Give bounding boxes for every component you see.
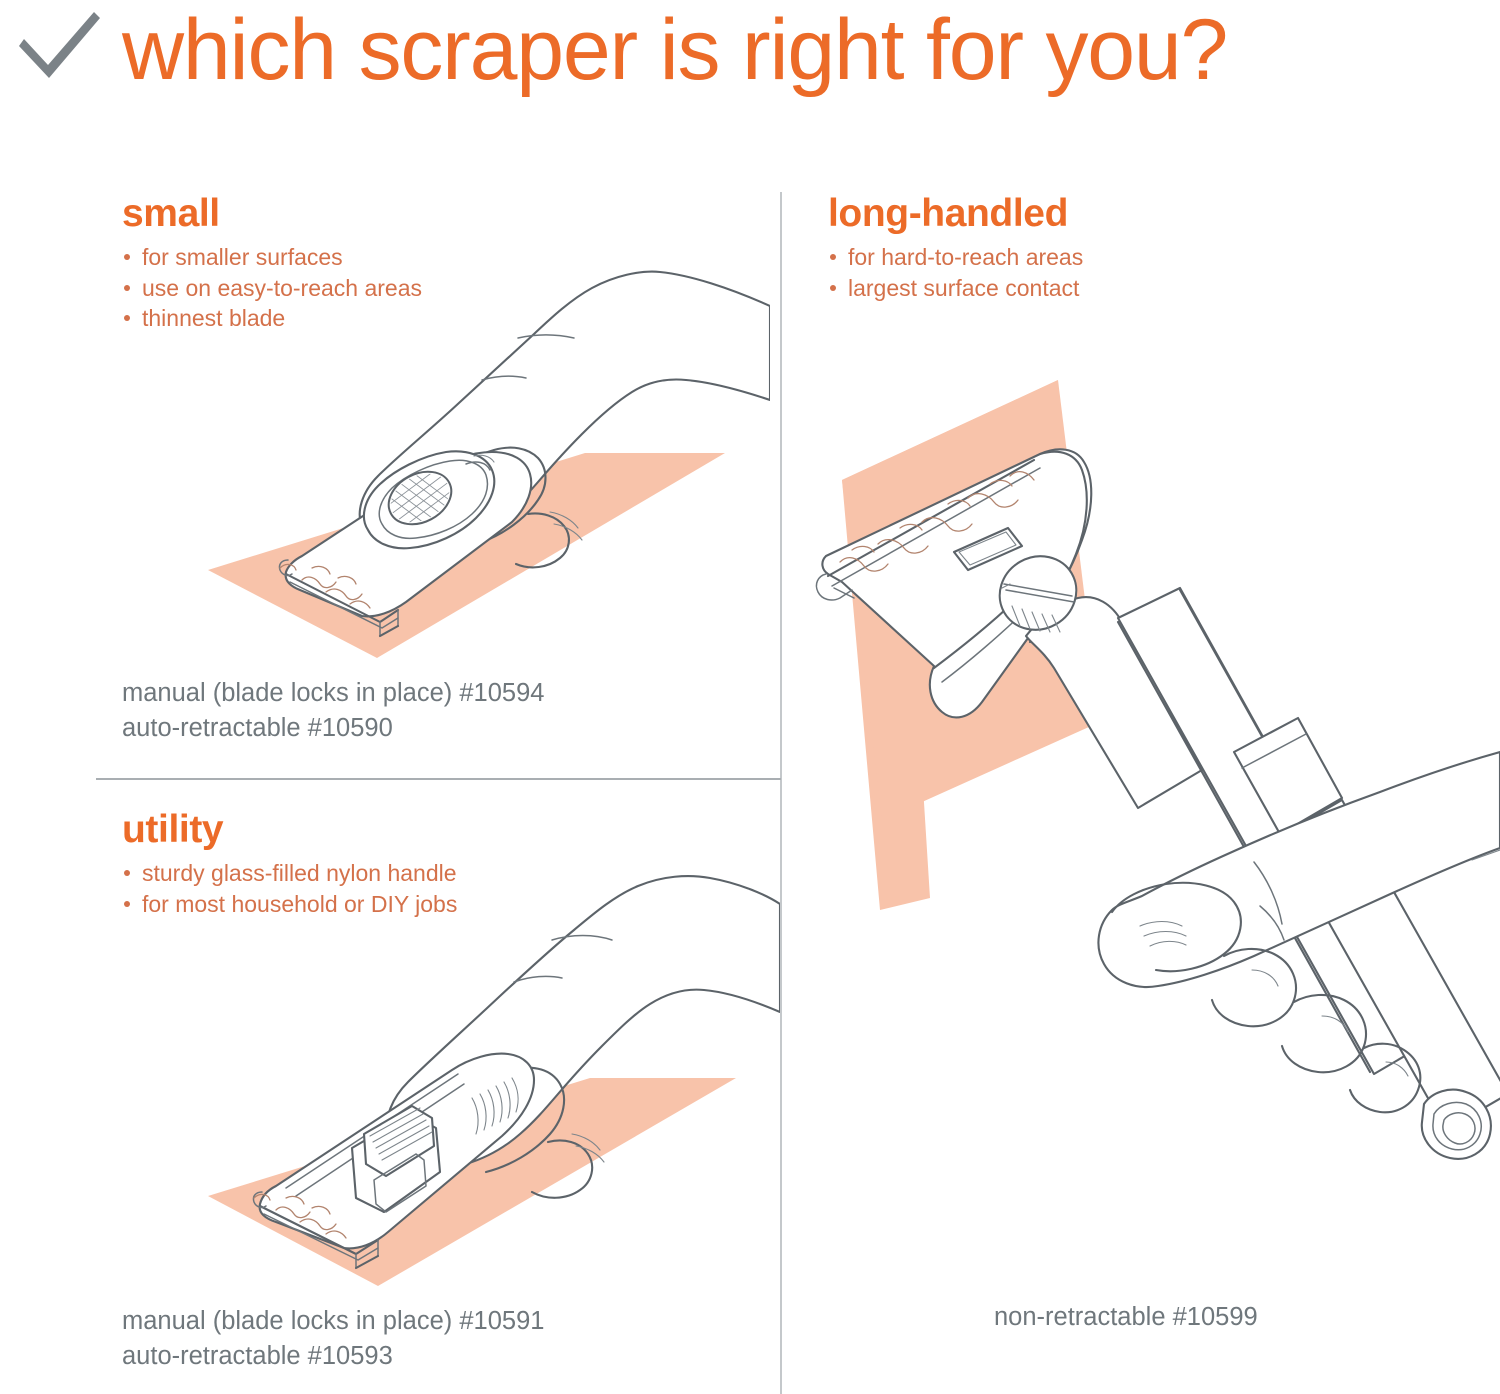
check-icon [16,8,102,88]
caption-line: manual (blade locks in place) #10594 [122,676,544,711]
bullet-list-long-handled: for hard-to-reach areas largest surface … [830,242,1083,303]
bullet-dot-icon [830,285,836,291]
panel-small: small for smaller surfaces use on easy-t… [0,170,780,780]
caption-utility: manual (blade locks in place) #10591 aut… [122,1304,544,1374]
panel-long-handled: long-handled for hard-to-reach areas lar… [782,170,1500,1394]
caption-line: auto-retractable #10593 [122,1339,544,1374]
illustration-utility-scraper [120,846,780,1316]
caption-long-handled: non-retractable #10599 [994,1300,1258,1335]
list-item: largest surface contact [830,273,1083,304]
panel-utility: utility sturdy glass-filled nylon handle… [0,786,780,1394]
caption-line: non-retractable #10599 [994,1300,1258,1335]
illustration-long-handled-scraper [782,350,1500,1360]
infographic-page: which scraper is right for you? small fo… [0,0,1500,1394]
bullet-dot-icon [830,254,836,260]
bullet-text: largest surface contact [848,275,1079,301]
illustration-small-scraper [130,230,770,680]
list-item: for hard-to-reach areas [830,242,1083,273]
caption-line: manual (blade locks in place) #10591 [122,1304,544,1339]
page-title: which scraper is right for you? [122,0,1227,102]
caption-line: auto-retractable #10590 [122,711,544,746]
caption-small: manual (blade locks in place) #10594 aut… [122,676,544,746]
header: which scraper is right for you? [0,0,1500,120]
bullet-text: for hard-to-reach areas [848,244,1083,270]
section-heading-long-handled: long-handled [828,192,1068,236]
